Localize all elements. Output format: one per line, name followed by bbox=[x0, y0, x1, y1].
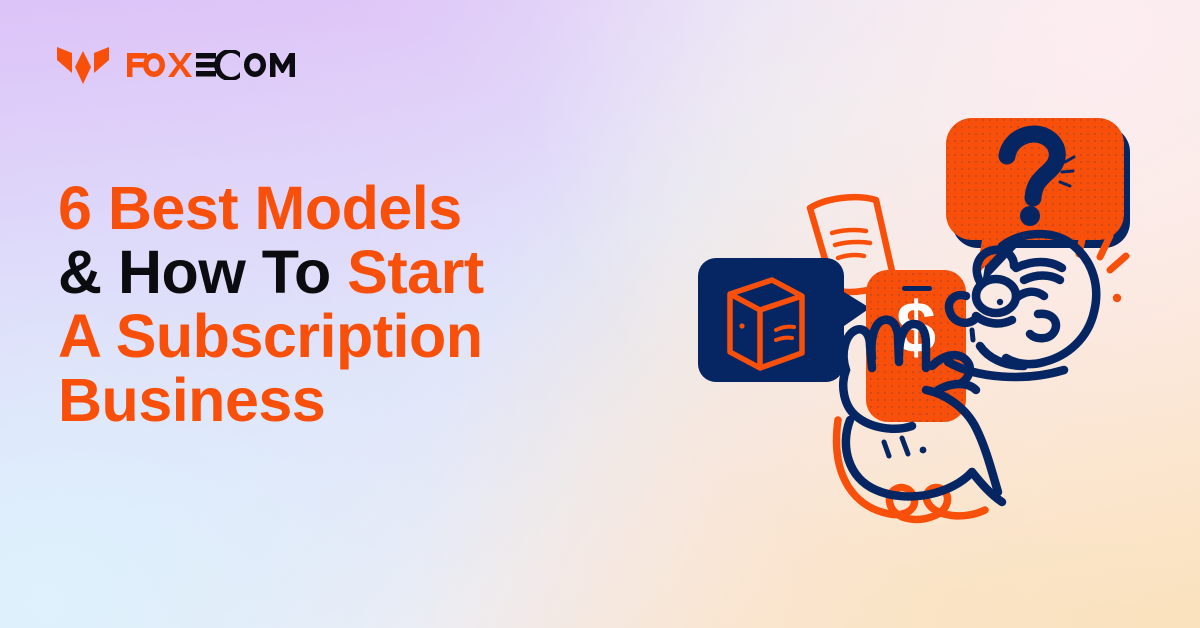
headline-line-1: 6 Best Models bbox=[58, 176, 618, 240]
headline-line-3: A Subscription bbox=[58, 304, 618, 368]
headline-block: 6 Best Models & How To Start A Subscript… bbox=[58, 176, 618, 432]
brand-logo[interactable] bbox=[55, 44, 295, 91]
headline-line-2-dark-text: & How To bbox=[58, 238, 347, 306]
person-face-profile-icon bbox=[948, 234, 1096, 377]
headline-line-2: & How To Start bbox=[58, 240, 618, 304]
fox-head-mark-icon bbox=[55, 44, 111, 91]
blog-cover-banner: 6 Best Models & How To Start A Subscript… bbox=[0, 0, 1200, 628]
brand-wordmark bbox=[127, 50, 295, 85]
headline-line-2-accent-text: Start bbox=[347, 238, 483, 306]
headline-line-4-text: Business bbox=[58, 366, 325, 434]
orange-loop-squiggle-icon bbox=[837, 420, 985, 519]
headline-line-1-text: 6 Best Models bbox=[58, 174, 462, 242]
confused-person-subscription-illustration: $ bbox=[680, 90, 1130, 530]
headline-line-3-text: A Subscription bbox=[58, 302, 483, 370]
headline-line-4: Business bbox=[58, 368, 618, 432]
